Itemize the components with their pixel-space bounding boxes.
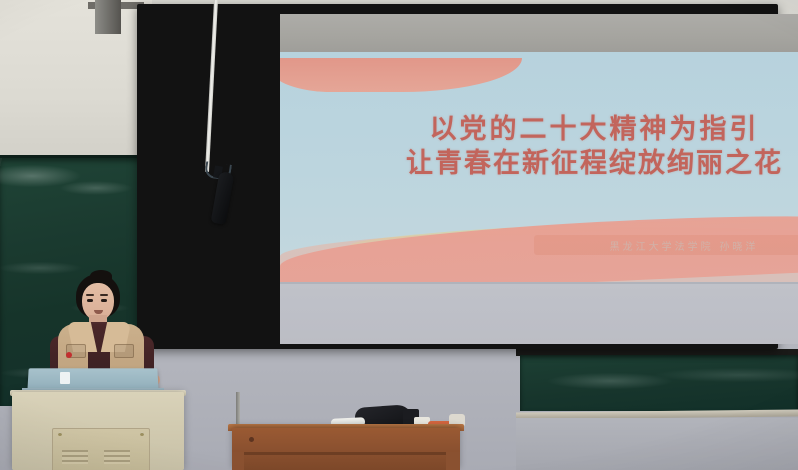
slide-bottom-band	[280, 282, 798, 344]
screen-mount-bracket	[95, 0, 121, 34]
slide-top-band	[280, 14, 798, 54]
presenter-vest-pocket-right	[114, 344, 134, 358]
podium-vent-right	[104, 450, 130, 464]
right-chalkboard	[520, 355, 798, 411]
podium-screw-right	[140, 432, 144, 436]
front-desk-leg-left	[232, 452, 244, 470]
projection-screen: 以党的二十大精神为指引 让青春在新征程绽放绚丽之花 黑龙江大学法学院 孙晓洋	[280, 14, 798, 344]
front-desk-edge	[232, 452, 460, 455]
upper-left-wall	[0, 0, 152, 160]
front-desk	[232, 428, 460, 470]
podium-screw-left	[58, 432, 62, 436]
presenter-eye-left	[87, 299, 93, 302]
lower-right-wall	[516, 418, 798, 470]
vertical-pole	[236, 392, 240, 428]
podium-vent-left	[62, 450, 88, 464]
slide-subtitle: 黑龙江大学法学院 孙晓洋	[610, 238, 759, 253]
slide-title-line1: 以党的二十大精神为指引	[430, 114, 760, 144]
presenter-eye-right	[101, 299, 107, 302]
presenter-brow-right	[100, 294, 108, 296]
front-desk-leg-right	[446, 452, 460, 470]
laptop-logo-icon	[60, 372, 70, 384]
presenter-brow-left	[86, 294, 94, 296]
classroom-lecture-screenshot: 以党的二十大精神为指引 让青春在新征程绽放绚丽之花 黑龙江大学法学院 孙晓洋	[0, 0, 798, 470]
slide-bottom-divider	[280, 282, 798, 284]
front-desk-screw	[249, 437, 254, 442]
lapel-microphone-icon	[66, 352, 72, 358]
slide-subtitle-bar: 黑龙江大学法学院 孙晓洋	[534, 235, 798, 255]
slide-title: 以党的二十大精神为指引 让青春在新征程绽放绚丽之花	[280, 112, 798, 180]
slide-title-line2: 让青春在新征程绽放绚丽之花	[280, 146, 798, 180]
